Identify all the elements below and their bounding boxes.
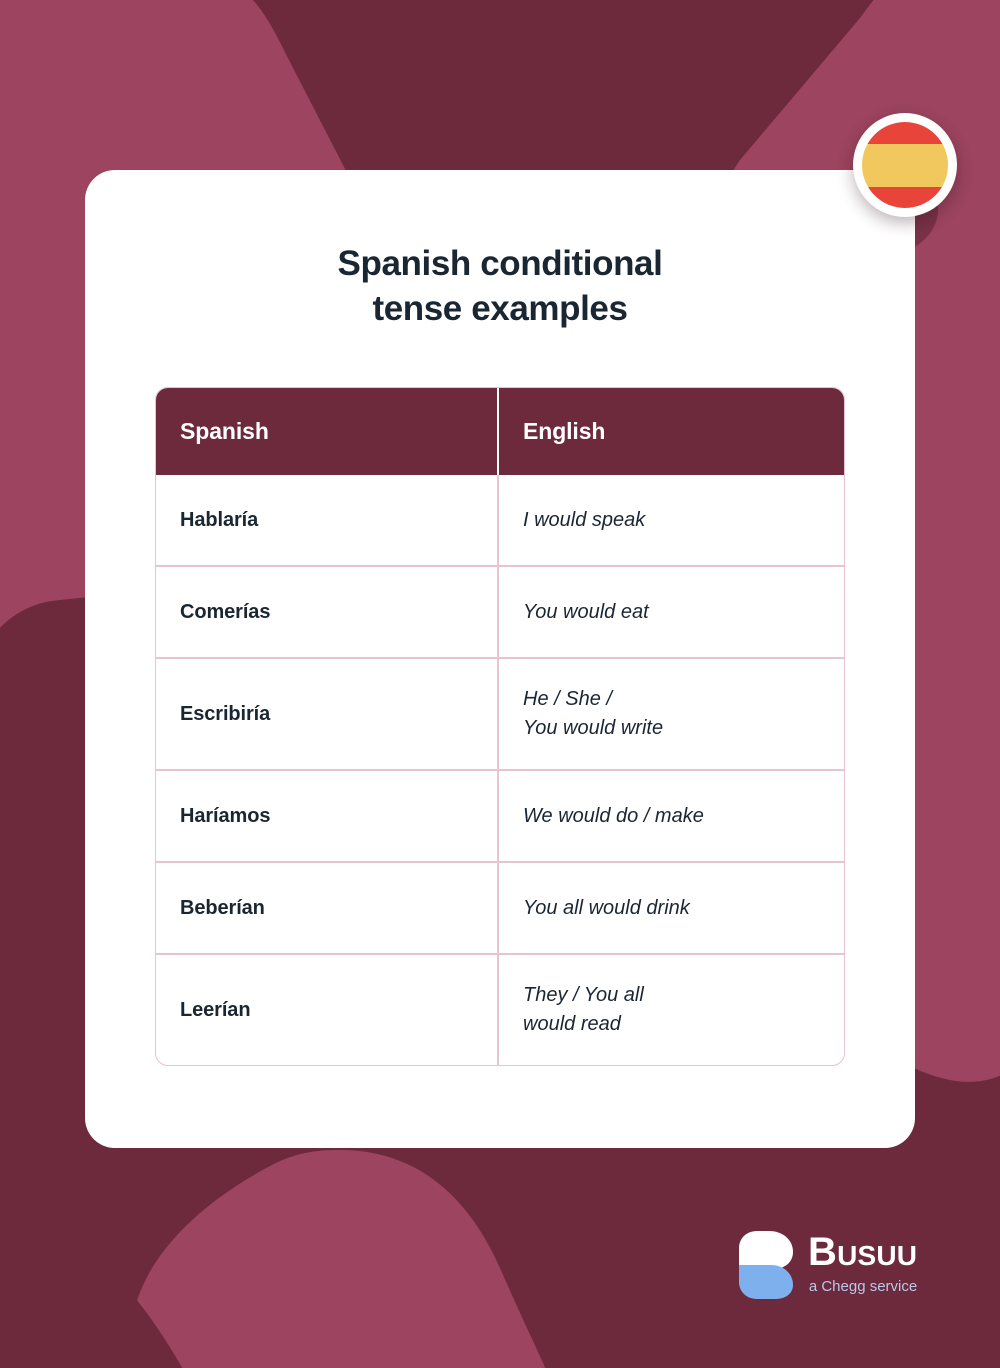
poster-canvas: Spanish conditional tense examples Spani… (0, 0, 1000, 1368)
busuu-logo: Busuu a Chegg service (735, 1228, 950, 1314)
content-card: Spanish conditional tense examples Spani… (85, 170, 915, 1148)
cell-english-line: You would eat (523, 598, 649, 627)
cell-english-line: I would speak (523, 506, 645, 535)
cell-spanish: Leerían (156, 955, 499, 1065)
table-body: Hablaría I would speak Comerías You woul… (156, 475, 844, 1065)
flag-stripe-red-bottom (862, 187, 948, 209)
page-title-line-1: Spanish conditional (155, 242, 845, 287)
table-header-row: Spanish English (156, 388, 844, 475)
cell-spanish: Beberían (156, 863, 499, 953)
cell-spanish: Haríamos (156, 771, 499, 861)
column-header-english: English (499, 388, 844, 475)
table-row: Beberían You all would drink (156, 861, 844, 953)
cell-english: You would eat (499, 567, 844, 657)
busuu-logo-text: Busuu a Chegg service (808, 1228, 917, 1294)
cell-english: You all would drink (499, 863, 844, 953)
page-title-line-2: tense examples (155, 287, 845, 332)
cell-english: They / You all would read (499, 955, 844, 1065)
page-title: Spanish conditional tense examples (85, 170, 915, 332)
cell-english-line: You would write (523, 714, 663, 743)
logo-mark-bottom-lobe (739, 1265, 793, 1299)
cell-english: I would speak (499, 475, 844, 565)
cell-spanish: Comerías (156, 567, 499, 657)
spain-flag-icon (853, 113, 957, 217)
table-row: Comerías You would eat (156, 565, 844, 657)
table-row: Leerían They / You all would read (156, 953, 844, 1065)
cell-english-line: would read (523, 1010, 644, 1039)
cell-english: He / She / You would write (499, 659, 844, 769)
busuu-logo-icon (735, 1230, 795, 1300)
table-row: Hablaría I would speak (156, 475, 844, 565)
cell-english-line: You all would drink (523, 894, 690, 923)
logo-mark-top-lobe (739, 1231, 793, 1269)
flag-stripes (862, 122, 948, 208)
cell-english-line: They / You all (523, 981, 644, 1010)
table-row: Haríamos We would do / make (156, 769, 844, 861)
table-row: Escribiría He / She / You would write (156, 657, 844, 769)
flag-stripe-red-top (862, 122, 948, 144)
cell-english-line: He / She / (523, 685, 663, 714)
cell-spanish: Hablaría (156, 475, 499, 565)
busuu-tagline: a Chegg service (808, 1279, 917, 1294)
cell-english-line: We would do / make (523, 802, 704, 831)
cell-english: We would do / make (499, 771, 844, 861)
column-header-spanish: Spanish (156, 388, 499, 475)
flag-stripe-yellow (862, 144, 948, 187)
busuu-wordmark: Busuu (808, 1232, 917, 1272)
cell-spanish: Escribiría (156, 659, 499, 769)
conditional-tense-table: Spanish English Hablaría I would speak C… (155, 387, 845, 1066)
